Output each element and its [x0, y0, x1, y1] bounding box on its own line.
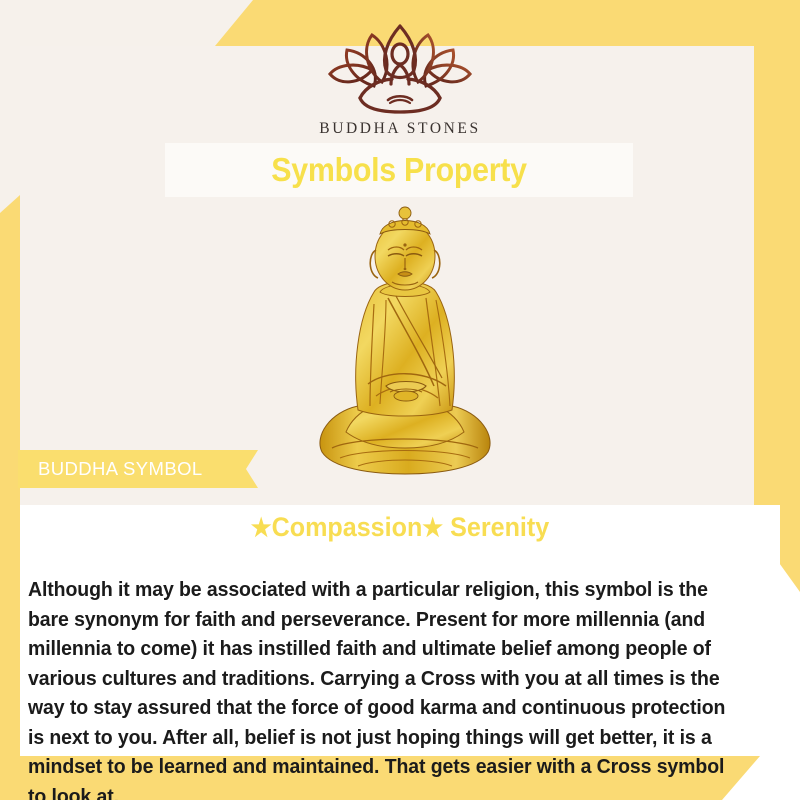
section-headline: ★Compassion★ Serenity [28, 512, 772, 543]
lotus-meditation-figure-icon [316, 22, 484, 114]
page-title: Symbols Property [184, 143, 615, 197]
body-paragraph: Although it may be associated with a par… [28, 576, 739, 800]
buddha-symbol-label: BUDDHA SYMBOL [38, 450, 203, 488]
brand-wordmark: BUDDHA STONES [0, 120, 800, 138]
brand-logo-block: BUDDHA STONES [0, 22, 800, 138]
star-icon-right: ★ [422, 514, 443, 542]
decor-left-yellow-bar [0, 195, 20, 800]
buddha-statue-icon [300, 200, 510, 490]
headline-word-serenity-text: Serenity [450, 512, 549, 542]
star-icon-left: ★ [251, 514, 272, 542]
headline-word-compassion: Compassion [272, 512, 423, 542]
headline-word-serenity [443, 512, 450, 542]
buddha-statue-image [300, 200, 510, 490]
infographic-page: BUDDHA STONES Symbols Property [0, 0, 800, 800]
